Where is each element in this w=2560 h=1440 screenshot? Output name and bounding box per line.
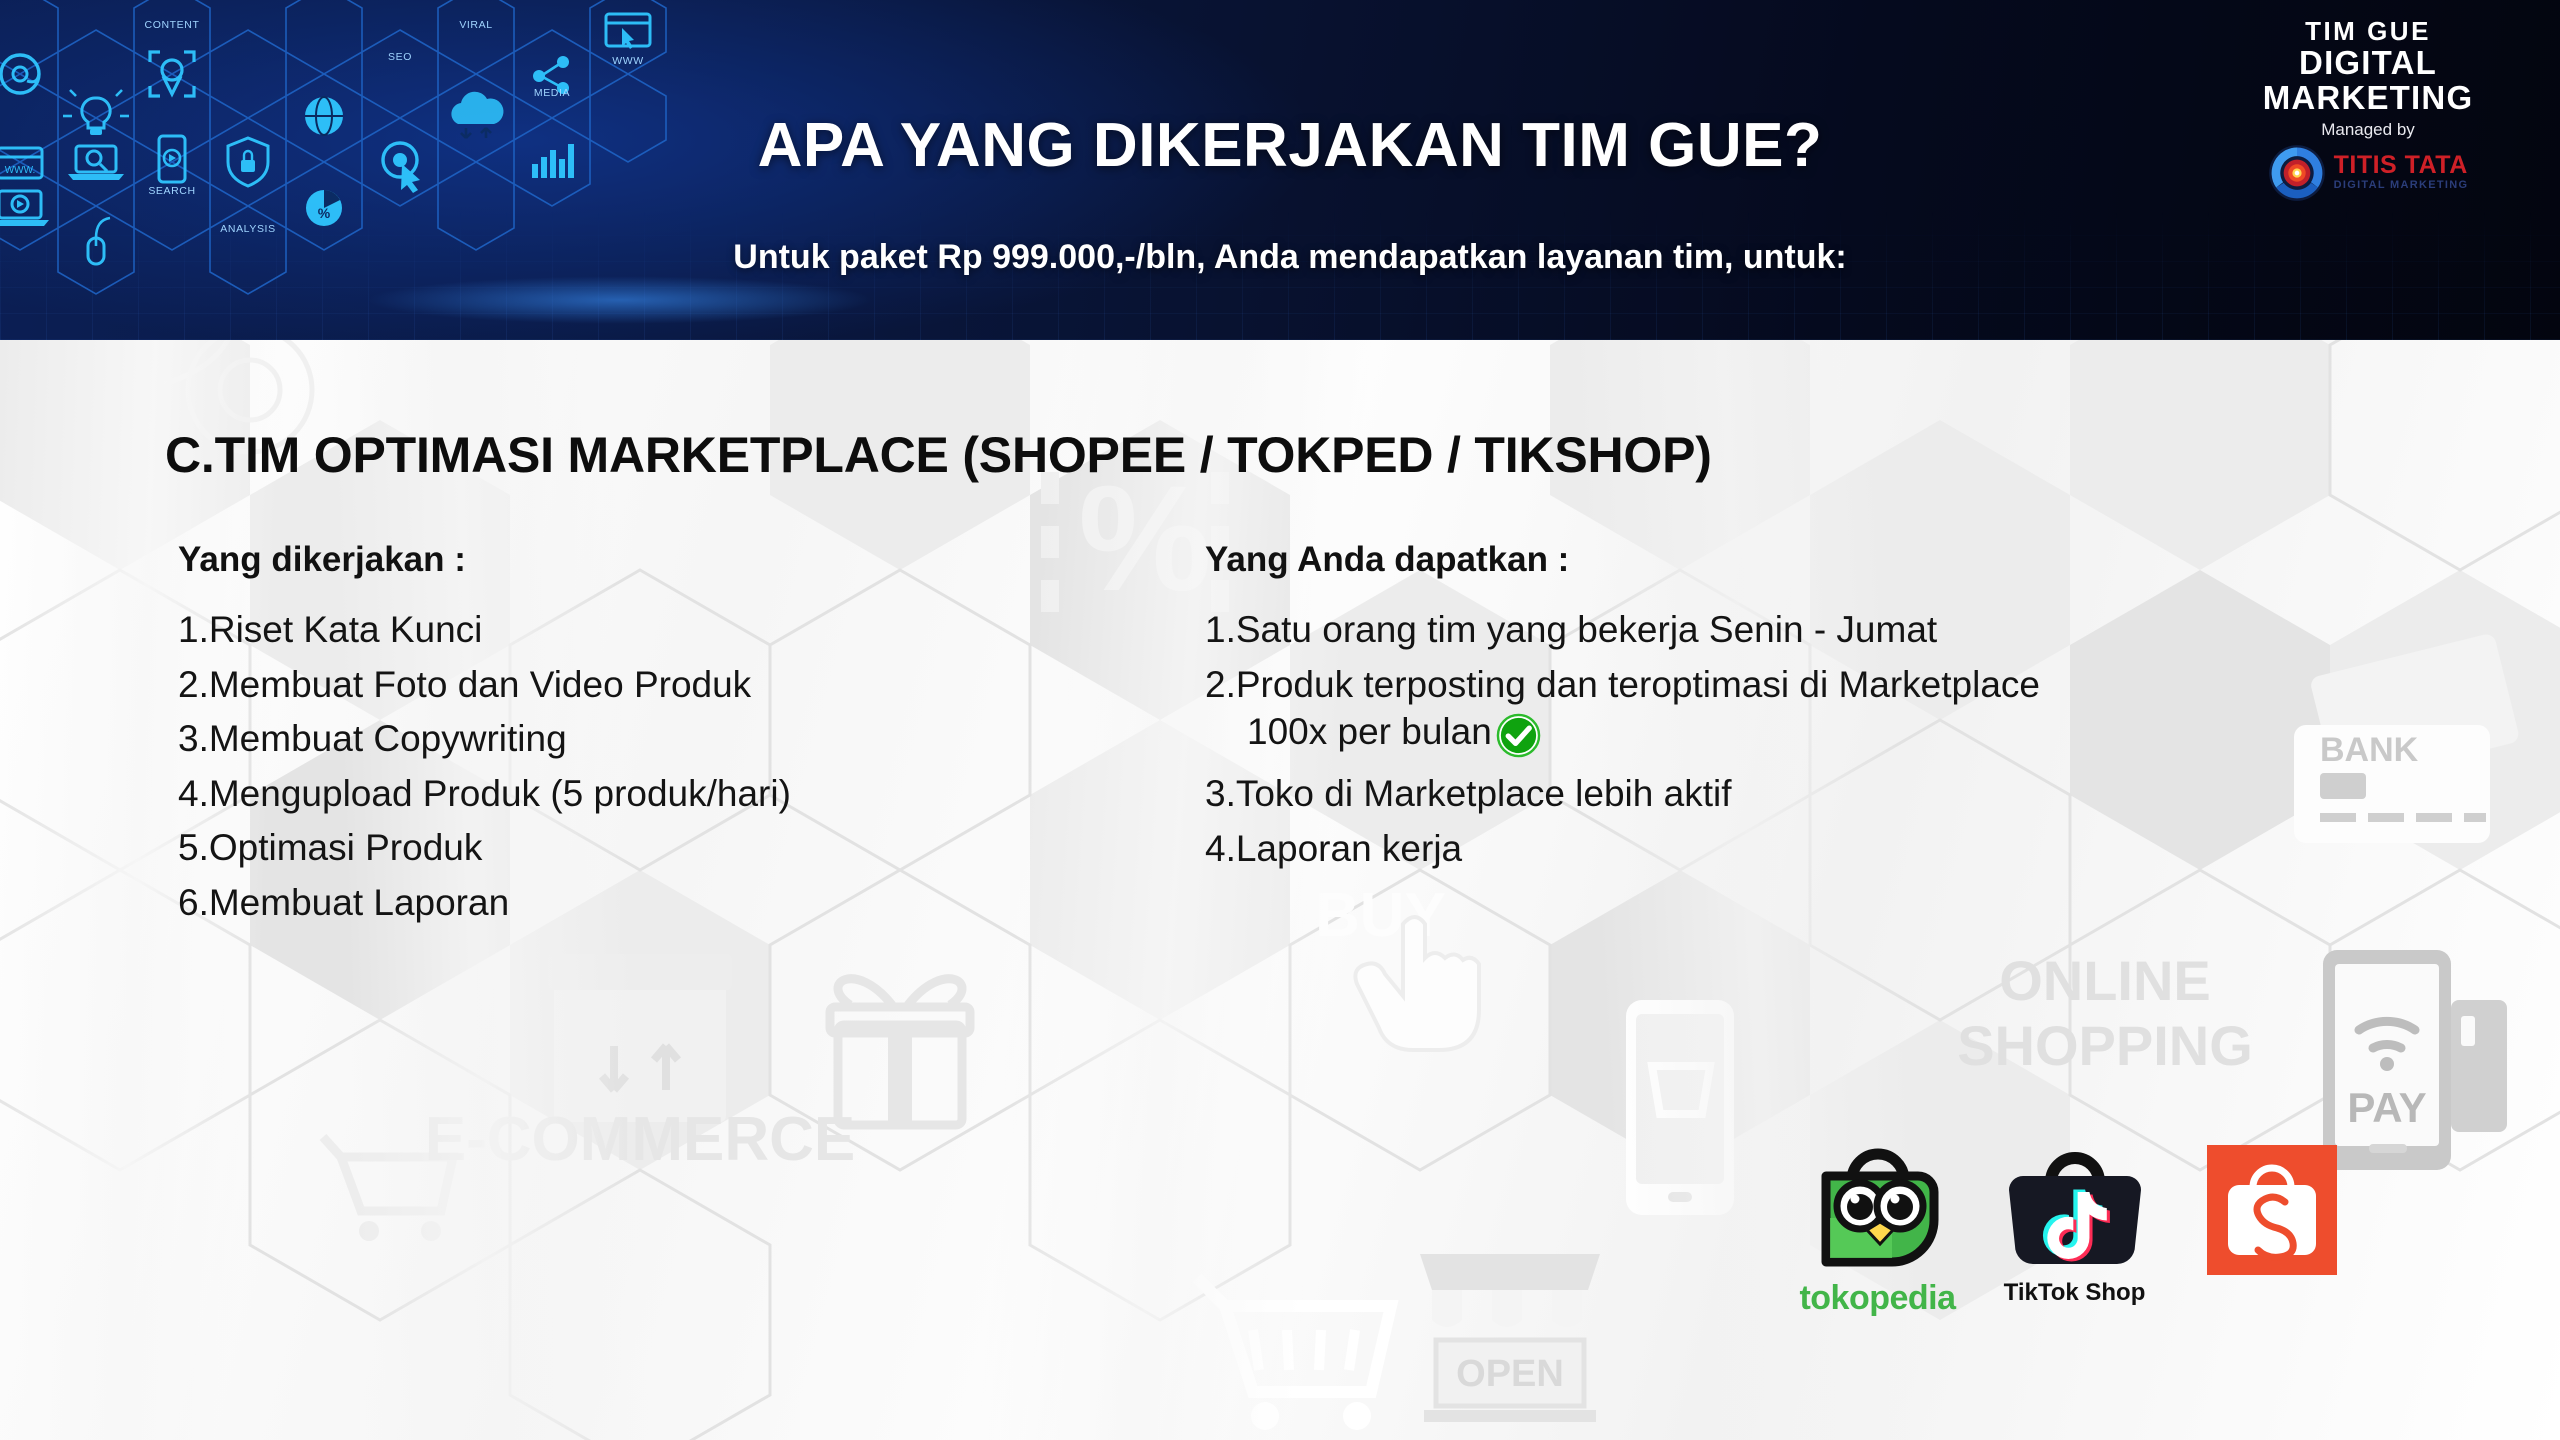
list-item: 4.Laporan kerja — [1205, 829, 2505, 869]
list-item: 2.Produk terposting dan teroptimasi di M… — [1205, 665, 2505, 705]
package-box-icon — [548, 954, 732, 1122]
banner-label-viral: VIRAL — [459, 19, 492, 31]
buy-click-icon: BUY — [1315, 881, 1479, 1050]
list-item: 3.Membuat Copywriting — [178, 719, 1158, 759]
list-item: 6.Membuat Laporan — [178, 883, 1158, 923]
shopee-logo — [2184, 1145, 2359, 1279]
item-text: Mengupload Produk (5 produk/hari) — [209, 774, 791, 814]
partner-name: TITIS TATA — [2334, 153, 2469, 178]
video-laptop-icon — [0, 191, 49, 226]
item-text: Riset Kata Kunci — [209, 610, 483, 650]
mobile-pay-icon: PAY — [2323, 950, 2507, 1170]
svg-text:PAY: PAY — [2347, 1084, 2426, 1131]
partner-tagline: DIGITAL MARKETING — [2334, 178, 2469, 193]
idea-bulb-icon — [63, 90, 129, 135]
managed-by-label: Managed by — [2198, 121, 2538, 138]
tokopedia-caption: tokopedia — [1790, 1279, 1965, 1318]
brand-line-2: DIGITAL MARKETING — [2198, 46, 2538, 115]
left-column-list: 1.Riset Kata Kunci 2.Membuat Foto dan Vi… — [178, 610, 1158, 922]
item-text: Membuat Copywriting — [209, 719, 567, 759]
shop-open-icon: OPEN — [1420, 1254, 1600, 1422]
tiktok-shop-bag-icon — [2005, 1146, 2145, 1274]
item-text: Laporan kerja — [1236, 829, 1462, 869]
cart-icon — [1197, 1278, 1391, 1430]
pie-chart-icon: % — [306, 190, 342, 226]
watermark-word-online: ONLINE — [1999, 949, 2211, 1012]
banner-label-analysis: ANALYSIS — [220, 223, 275, 235]
check-circle-icon — [1495, 712, 1542, 759]
item-number: 5. — [178, 828, 209, 868]
item-number: 4. — [1205, 829, 1236, 869]
banner-label-seo: SEO — [388, 51, 412, 63]
mouse-icon — [88, 218, 110, 264]
list-item-continuation: 100x per bulan — [1247, 712, 2505, 759]
svg-text:WWW.: WWW. — [5, 165, 36, 176]
brand-logo-block: TIM GUE DIGITAL MARKETING Managed by TIT… — [2198, 18, 2538, 202]
list-item: 5.Optimasi Produk — [178, 828, 1158, 868]
item-number: 2. — [178, 665, 209, 705]
right-column: Yang Anda dapatkan : 1.Satu orang tim ya… — [1205, 540, 2505, 883]
item-text: Membuat Foto dan Video Produk — [209, 665, 751, 705]
left-column: Yang dikerjakan : 1.Riset Kata Kunci 2.M… — [178, 540, 1158, 937]
tokopedia-owl-bag-icon — [1808, 1146, 1948, 1274]
item-text: Membuat Laporan — [209, 883, 509, 923]
partner-wordmark: TITIS TATA DIGITAL MARKETING — [2334, 153, 2469, 193]
item-number: 2. — [1205, 665, 1236, 705]
laptop-search-icon — [68, 146, 124, 180]
banner-label-search: SEARCH — [148, 185, 195, 197]
browser-cursor-icon — [606, 14, 650, 49]
banner-label-content: CONTENT — [145, 19, 200, 31]
tiktok-shop-caption: TikTok Shop — [1987, 1279, 2162, 1307]
right-column-title: Yang Anda dapatkan : — [1205, 540, 2505, 580]
list-item: 3.Toko di Marketplace lebih aktif — [1205, 774, 2505, 814]
globe-icon — [305, 97, 343, 135]
tiktok-shop-logo: TikTok Shop — [1987, 1145, 2162, 1307]
right-column-list: 1.Satu orang tim yang bekerja Senin - Ju… — [1205, 610, 2505, 868]
left-column-title: Yang dikerjakan : — [178, 540, 1158, 580]
mobile-shopping-icon — [1626, 1000, 1734, 1215]
watermark-word-shopping: SHOPPING — [1957, 1014, 2253, 1077]
titis-tata-swirl-icon — [2268, 144, 2326, 202]
item-text: Satu orang tim yang bekerja Senin - Juma… — [1236, 610, 1937, 650]
list-item: 2.Membuat Foto dan Video Produk — [178, 665, 1158, 705]
item-number: 3. — [1205, 774, 1236, 814]
mobile-play-icon — [159, 136, 185, 182]
page-title: APA YANG DIKERJAKAN TIM GUE? — [430, 110, 2150, 181]
item-number: 6. — [178, 883, 209, 923]
list-item: 1.Riset Kata Kunci — [178, 610, 1158, 650]
marketplace-logo-row: tokopedia TikTok Shop — [1790, 1145, 2359, 1318]
shopee-bag-icon — [2207, 1145, 2337, 1275]
banner-label-media: MEDIA — [534, 87, 570, 99]
header-banner: WWW. — [0, 0, 2560, 340]
banner-label-www: WWW — [612, 55, 644, 67]
watermark-word-ecommerce: E-COMMERCE — [425, 1105, 856, 1174]
section-heading: C.TIM OPTIMASI MARKETPLACE (SHOPEE / TOK… — [165, 426, 1712, 484]
page-subtitle: Untuk paket Rp 999.000,-/bln, Anda menda… — [430, 238, 2150, 277]
item-text: Produk terposting dan teroptimasi di Mar… — [1236, 665, 2040, 705]
svg-text:OPEN: OPEN — [1456, 1353, 1564, 1395]
security-shield-icon — [228, 138, 268, 186]
item-number: 3. — [178, 719, 209, 759]
gift-icon — [830, 979, 970, 1125]
tokopedia-logo: tokopedia — [1790, 1145, 1965, 1318]
partner-logo: TITIS TATA DIGITAL MARKETING — [2198, 144, 2538, 202]
item-continuation-text: 100x per bulan — [1247, 712, 1492, 752]
list-item: 1.Satu orang tim yang bekerja Senin - Ju… — [1205, 610, 2505, 650]
list-item: 4.Mengupload Produk (5 produk/hari) — [178, 774, 1158, 814]
brand-line-1: TIM GUE — [2198, 18, 2538, 44]
item-text: Toko di Marketplace lebih aktif — [1236, 774, 1732, 814]
target-click-icon — [383, 143, 420, 193]
item-number: 1. — [1205, 610, 1236, 650]
item-number: 1. — [178, 610, 209, 650]
item-text: Optimasi Produk — [209, 828, 483, 868]
slide-root: OPEN PAY — [0, 0, 2560, 1440]
svg-text:%: % — [318, 205, 331, 221]
item-number: 4. — [178, 774, 209, 814]
